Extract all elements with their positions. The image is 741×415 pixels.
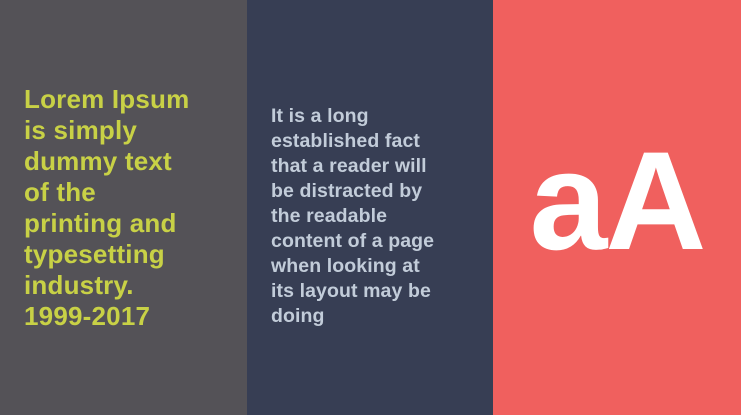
body-copy-text: It is a long established fact that a rea… bbox=[271, 104, 481, 329]
specimen-glyphs: aA bbox=[530, 131, 705, 271]
type-specimen-poster: Lorem Ipsum is simply dummy text of the … bbox=[0, 0, 741, 415]
body-copy-panel: It is a long established fact that a rea… bbox=[247, 0, 493, 415]
headline-text: Lorem Ipsum is simply dummy text of the … bbox=[24, 84, 239, 332]
type-specimen-panel: aA bbox=[493, 0, 741, 415]
headline-panel: Lorem Ipsum is simply dummy text of the … bbox=[0, 0, 247, 415]
